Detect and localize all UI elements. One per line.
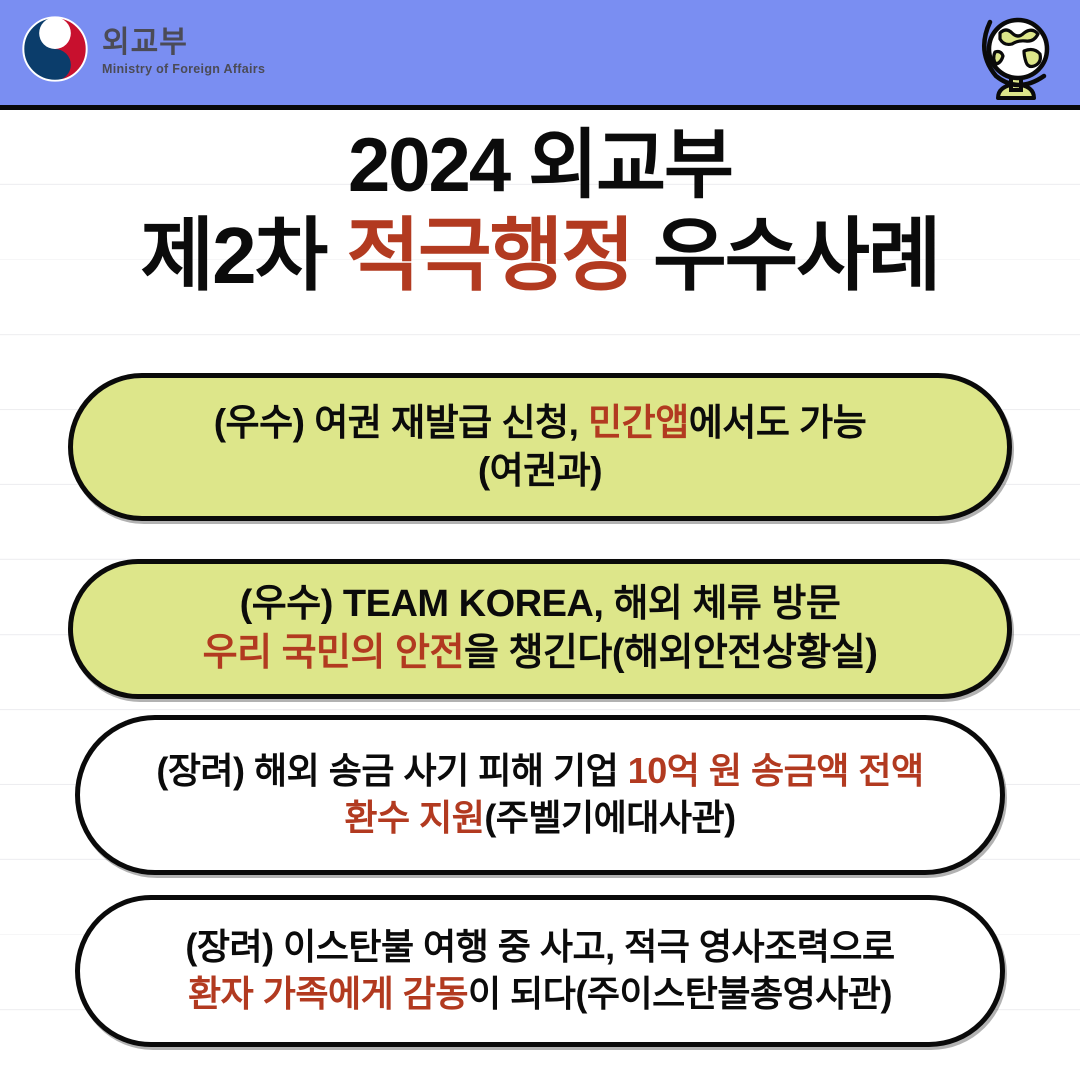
card1-line1-highlight: 민간앱 bbox=[588, 402, 689, 443]
card2-line1-before: (우수) TEAM KOREA, 해외 체류 방문 bbox=[240, 583, 841, 625]
card1-line1-after: 에서도 가능 bbox=[689, 402, 866, 443]
title-line-2-after: 우수사례 bbox=[633, 211, 940, 300]
card3-line1-before: (장려) 해외 송금 사기 피해 기업 bbox=[156, 750, 627, 791]
title-line-2-before: 제2차 bbox=[141, 211, 347, 300]
ministry-name-en: Ministry of Foreign Affairs bbox=[102, 63, 265, 76]
card2-line2-after: 을 챙긴다(해외안전상황실) bbox=[464, 632, 877, 674]
title-line-1: 2024 외교부 bbox=[0, 128, 1080, 204]
card2-line2-highlight: 우리 국민의 안전 bbox=[203, 632, 464, 674]
globe-icon bbox=[966, 6, 1066, 106]
card3-line2-highlight: 환수 지원 bbox=[344, 797, 484, 838]
card4-line2-highlight: 환자 가족에게 감동 bbox=[188, 973, 468, 1014]
title-line-2-highlight: 적극행정 bbox=[346, 211, 632, 300]
award-case-card[interactable]: (우수) 여권 재발급 신청, 민간앱에서도 가능 (여권과) bbox=[68, 373, 1012, 521]
award-case-card[interactable]: (장려) 이스탄불 여행 중 사고, 적극 영사조력으로 환자 가족에게 감동이… bbox=[75, 895, 1005, 1047]
card4-line1-before: (장려) 이스탄불 여행 중 사고, 적극 영사조력으로 bbox=[185, 926, 894, 967]
award-case-text: (장려) 해외 송금 사기 피해 기업 10억 원 송금액 전액 환수 지원(주… bbox=[122, 748, 957, 842]
card4-line2-after: 이 되다(주이스탄불총영사관) bbox=[468, 973, 892, 1014]
card3-line1-highlight: 10억 원 송금액 전액 bbox=[628, 750, 924, 791]
taegeuk-icon bbox=[22, 16, 88, 87]
page-header: 외교부 Ministry of Foreign Affairs bbox=[0, 0, 1080, 110]
award-case-text: (우수) 여권 재발급 신청, 민간앱에서도 가능 (여권과) bbox=[180, 399, 901, 495]
award-case-text: (장려) 이스탄불 여행 중 사고, 적극 영사조력으로 환자 가족에게 감동이… bbox=[151, 924, 928, 1018]
award-case-card[interactable]: (우수) TEAM KOREA, 해외 체류 방문 우리 국민의 안전을 챙긴다… bbox=[68, 559, 1012, 699]
ministry-name-ko: 외교부 bbox=[102, 28, 265, 58]
page-title: 2024 외교부 제2차 적극행정 우수사례 bbox=[0, 128, 1080, 296]
page-background: 외교부 Ministry of Foreign Affairs 2 bbox=[0, 0, 1080, 1080]
award-case-text: (우수) TEAM KOREA, 해외 체류 방문 우리 국민의 안전을 챙긴다… bbox=[169, 580, 912, 679]
card1-line2-before: (여권과) bbox=[478, 450, 602, 491]
ministry-brand: 외교부 Ministry of Foreign Affairs bbox=[22, 16, 265, 87]
title-line-2: 제2차 적극행정 우수사례 bbox=[0, 216, 1080, 296]
award-case-card[interactable]: (장려) 해외 송금 사기 피해 기업 10억 원 송금액 전액 환수 지원(주… bbox=[75, 715, 1005, 875]
award-case-list: (우수) 여권 재발급 신청, 민간앱에서도 가능 (여권과) (우수) TEA… bbox=[0, 373, 1080, 1047]
card3-line2-after: (주벨기에대사관) bbox=[484, 797, 735, 838]
card1-line1-before: (우수) 여권 재발급 신청, bbox=[214, 402, 588, 443]
